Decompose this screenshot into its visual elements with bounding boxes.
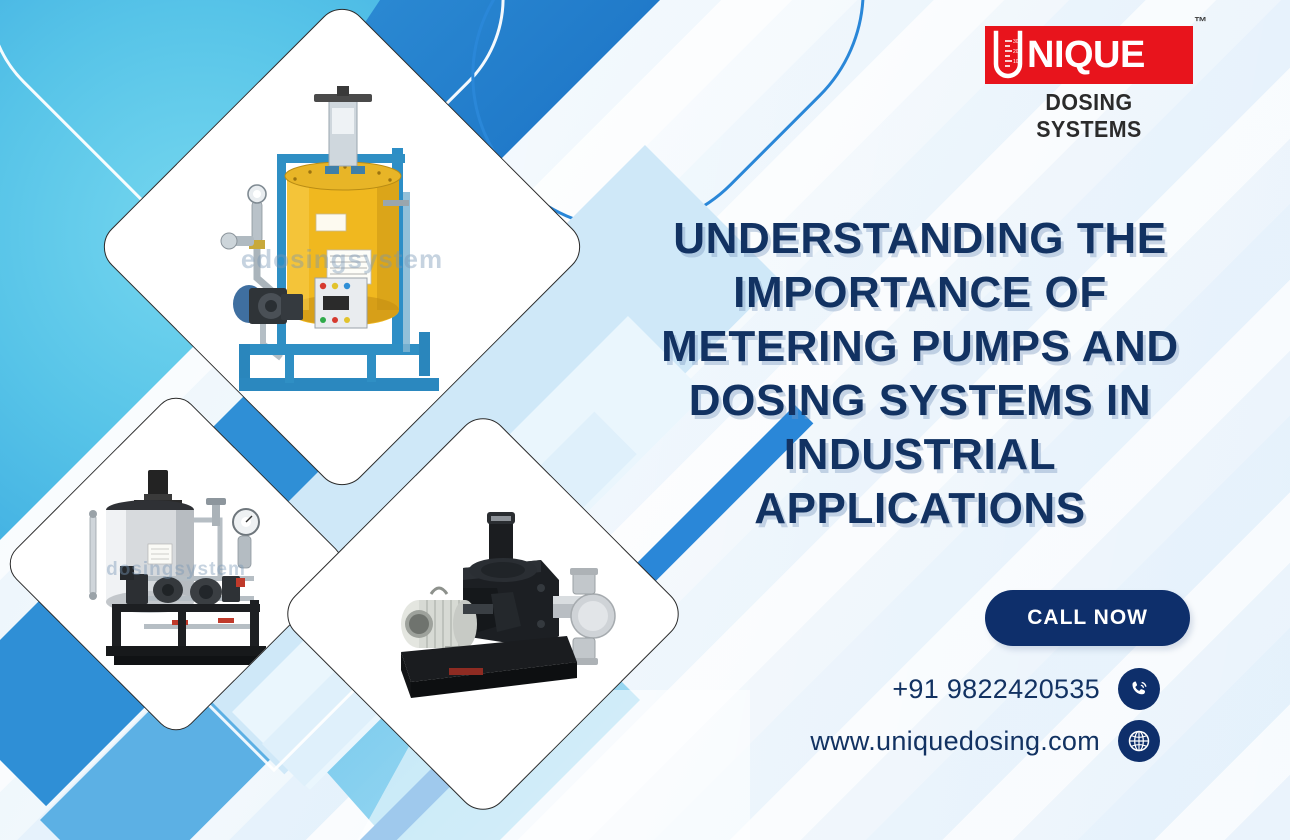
globe-icon[interactable] (1118, 720, 1160, 762)
website-url[interactable]: www.uniquedosing.com (810, 726, 1100, 757)
logo-red-block: 30 20 10 NIQUE ™ (985, 26, 1193, 84)
globe-glyph (1126, 728, 1152, 754)
svg-text:10: 10 (1013, 59, 1019, 65)
photo-steel-dosing-skid (60, 448, 292, 680)
headline-line-3: METERING PUMPS AND (620, 320, 1220, 374)
logo-wordmark: NIQUE (1027, 36, 1145, 74)
headline-line-6: APPLICATIONS (620, 482, 1220, 536)
headline-line-4: DOSING SYSTEMS IN (620, 374, 1220, 428)
contact-website-row[interactable]: www.uniquedosing.com (590, 720, 1160, 762)
logo-burette-u-icon: 30 20 10 (991, 30, 1025, 80)
call-now-button[interactable]: CALL NOW (985, 590, 1190, 646)
photo-caustic-dosing-tank (177, 82, 507, 412)
headline-line-2: IMPORTANCE OF (620, 266, 1220, 320)
marketing-banner: edosingsystem (0, 0, 1290, 840)
phone-call-glyph (1127, 677, 1151, 701)
cta-container: CALL NOW (620, 590, 1190, 646)
page-title: UNDERSTANDING THE IMPORTANCE OF METERING… (620, 212, 1220, 536)
svg-text:20: 20 (1013, 49, 1019, 55)
phone-call-icon[interactable] (1118, 668, 1160, 710)
company-logo[interactable]: 30 20 10 NIQUE ™ DOSING SYSTEMS (985, 26, 1193, 143)
svg-text:30: 30 (1013, 39, 1019, 45)
contact-phone-row[interactable]: +91 9822420535 (590, 668, 1160, 710)
logo-trademark-symbol: ™ (1194, 14, 1207, 29)
headline-line-1: UNDERSTANDING THE (620, 212, 1220, 266)
photo-plunger-metering-pump (345, 476, 621, 752)
phone-number[interactable]: +91 9822420535 (892, 674, 1100, 705)
headline-line-5: INDUSTRIAL (620, 428, 1220, 482)
logo-subtitle: DOSING SYSTEMS (992, 89, 1185, 143)
